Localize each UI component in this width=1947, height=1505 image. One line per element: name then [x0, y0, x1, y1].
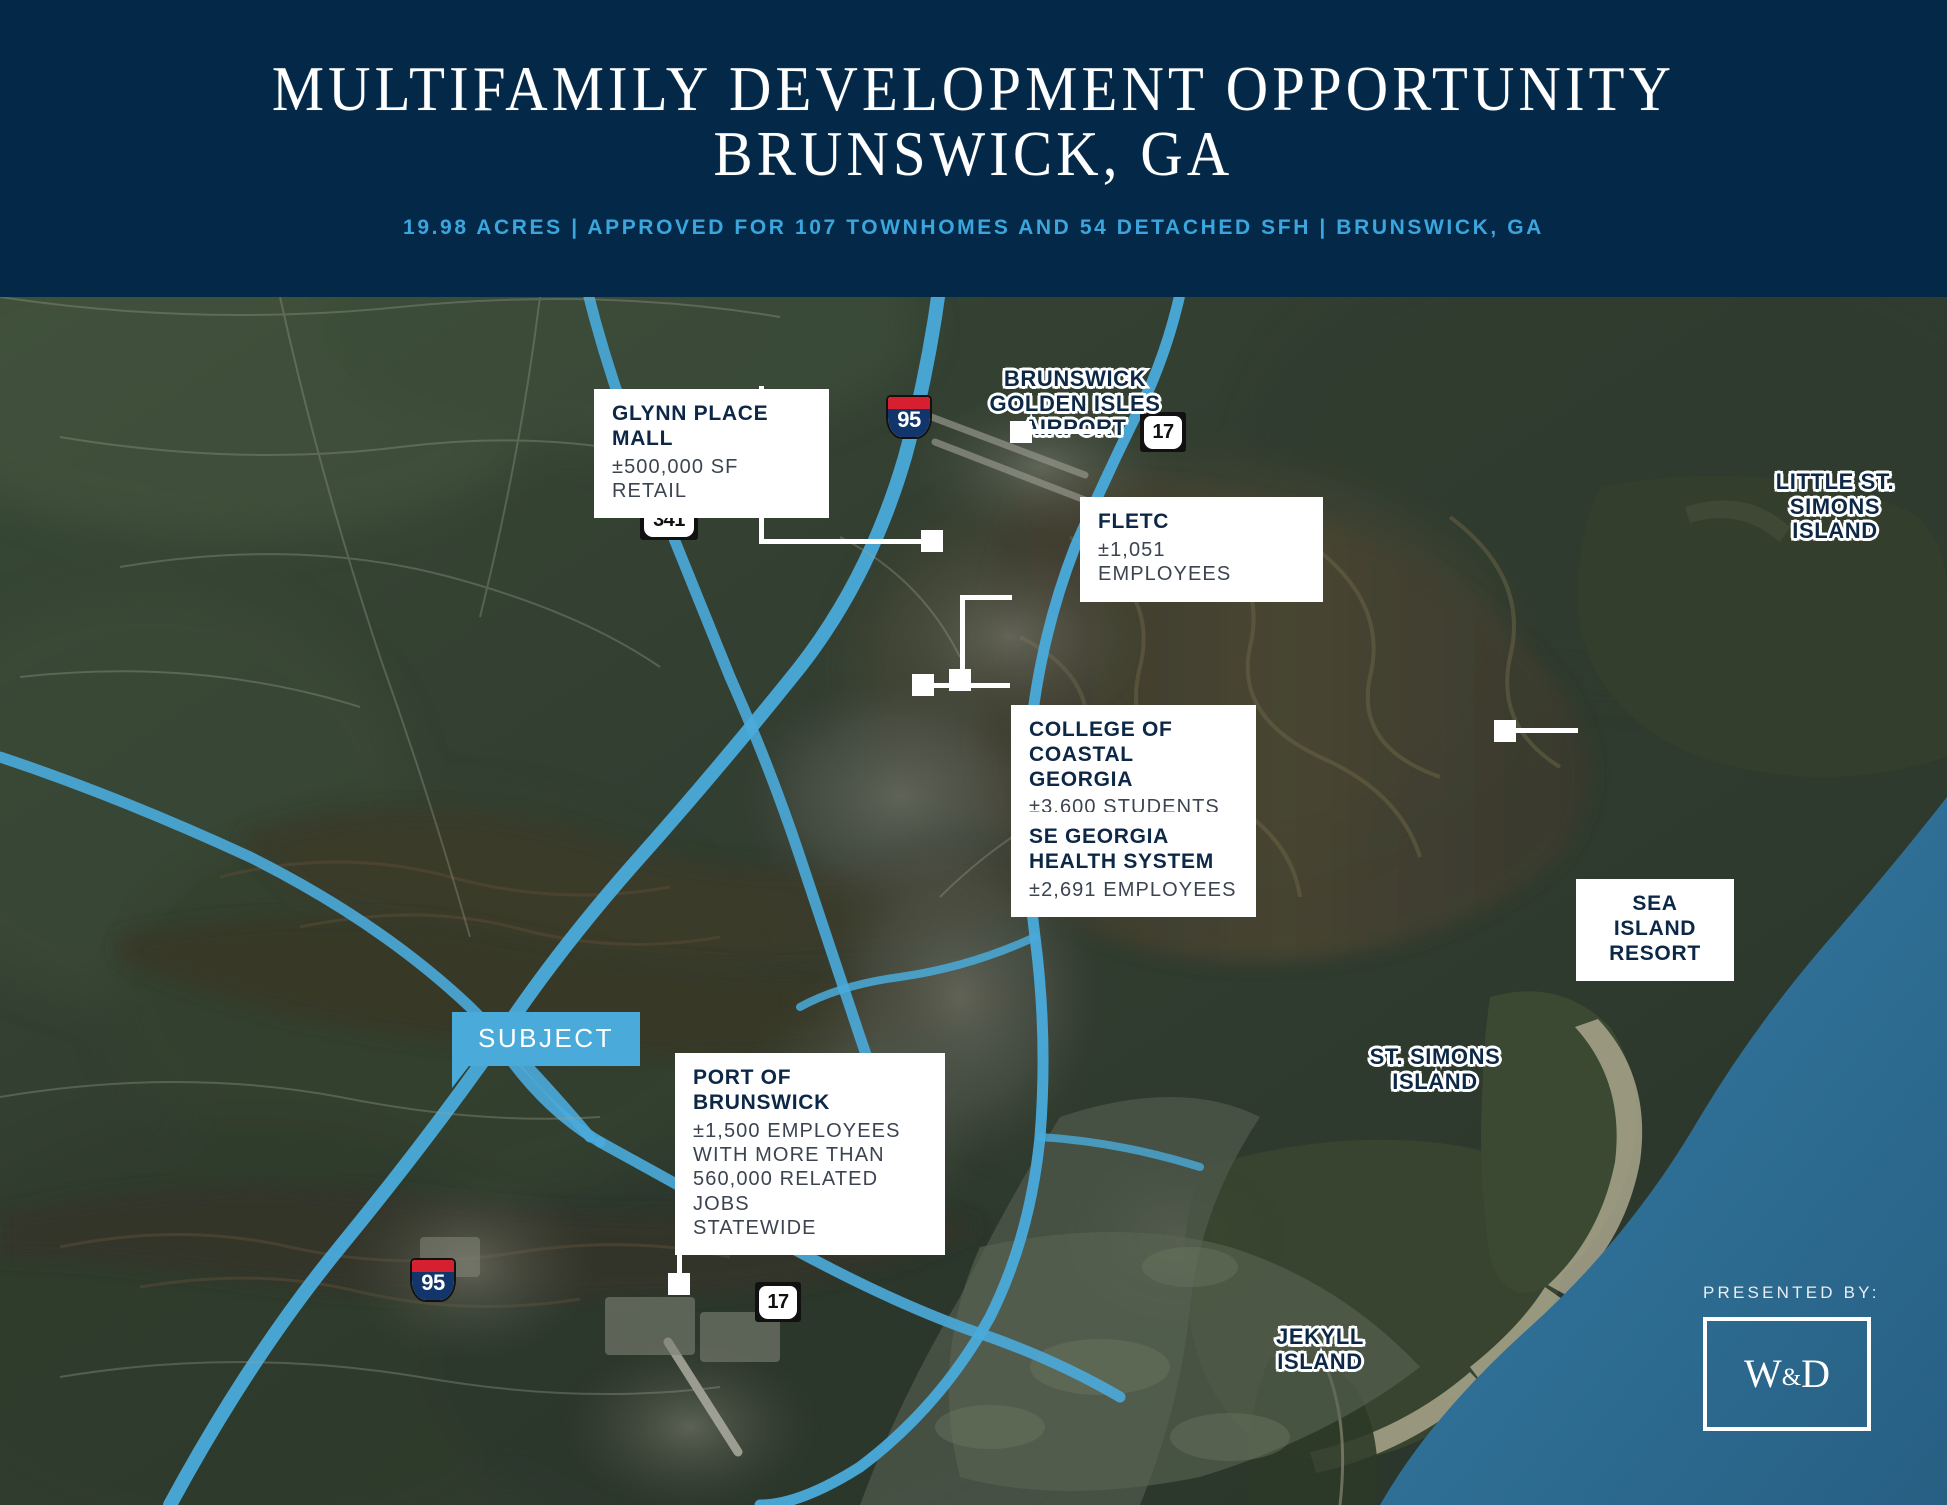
callout-title: FLETC	[1098, 510, 1305, 535]
presented-by-label: PRESENTED BY:	[1703, 1283, 1880, 1303]
shield-interstate-95-north: 95	[886, 395, 932, 439]
callout-detail: ±500,000 SF RETAIL	[612, 455, 811, 504]
callout-title: PORT OF BRUNSWICK	[693, 1066, 927, 1116]
anchor-fletc	[1010, 421, 1032, 443]
us-route-shield-icon: 17	[755, 1282, 801, 1322]
anchor-glynn-place-mall	[921, 530, 943, 552]
wd-logo-text: W&D	[1744, 1354, 1830, 1394]
place-label-st-simons-island: ST. SIMONS ISLAND	[1350, 1045, 1520, 1094]
shield-inner: 17	[759, 1286, 797, 1319]
callout-detail: ±1,051 EMPLOYEES	[1098, 538, 1305, 587]
leader-line-ccga-h	[960, 595, 1012, 600]
place-label-little-st-simons-island: LITTLE ST. SIMONS ISLAND	[1760, 470, 1910, 544]
callout-port-of-brunswick[interactable]: PORT OF BRUNSWICK ±1,500 EMPLOYEES WITH …	[675, 1053, 945, 1255]
satellite-imagery	[0, 237, 1947, 1505]
callout-title: SE GEORGIA HEALTH SYSTEM	[1029, 825, 1238, 875]
callout-title: COLLEGE OF COASTAL GEORGIA	[1029, 718, 1238, 792]
anchor-sea-island	[1494, 720, 1516, 742]
callout-detail: ±1,500 EMPLOYEES WITH MORE THAN 560,000 …	[693, 1119, 927, 1241]
leader-line-glynn-place-mall-h	[759, 539, 929, 544]
leader-line-fletc	[1028, 429, 1110, 434]
callout-fletc[interactable]: FLETC ±1,051 EMPLOYEES	[1080, 497, 1323, 602]
leader-line-ccga-v	[960, 595, 965, 679]
header-banner: MULTIFAMILY DEVELOPMENT OPPORTUNITY BRUN…	[0, 0, 1947, 297]
page-title: MULTIFAMILY DEVELOPMENT OPPORTUNITY BRUN…	[272, 57, 1675, 187]
leader-line-segahs	[928, 683, 1010, 688]
logo-ampersand: &	[1782, 1364, 1801, 1391]
shield-number: 95	[421, 1272, 444, 1300]
callout-glynn-place-mall[interactable]: GLYNN PLACE MALL ±500,000 SF RETAIL	[594, 389, 829, 518]
callout-title: SEA ISLAND RESORT	[1594, 892, 1716, 966]
shield-interstate-95-south: 95	[410, 1258, 456, 1302]
anchor-segahs	[912, 674, 934, 696]
header-subtitle: 19.98 ACRES | APPROVED FOR 107 TOWNHOMES…	[403, 216, 1544, 240]
logo-w: W	[1744, 1351, 1782, 1396]
interstate-shield-icon: 95	[886, 395, 932, 439]
shield-number: 17	[767, 1292, 788, 1312]
place-label-jekyll-island: JEKYLL ISLAND	[1255, 1325, 1385, 1374]
leader-line-sea-island	[1508, 728, 1578, 733]
callout-sea-island-resort[interactable]: SEA ISLAND RESORT	[1576, 879, 1734, 981]
callout-se-georgia-health-system[interactable]: SE GEORGIA HEALTH SYSTEM ±2,691 EMPLOYEE…	[1011, 812, 1256, 917]
shield-us-17-south: 17	[755, 1282, 801, 1322]
interstate-shield-icon: 95	[410, 1258, 456, 1302]
subject-label: SUBJECT	[452, 1012, 640, 1066]
anchor-port	[668, 1273, 690, 1295]
callout-title: GLYNN PLACE MALL	[612, 402, 811, 452]
marketing-flyer-page: MULTIFAMILY DEVELOPMENT OPPORTUNITY BRUN…	[0, 0, 1947, 1505]
aerial-map[interactable]	[0, 237, 1947, 1505]
presented-by-block: PRESENTED BY: W&D	[1703, 1283, 1880, 1431]
subject-pointer	[452, 1066, 469, 1088]
callout-detail: ±2,691 EMPLOYEES	[1029, 878, 1238, 902]
shield-number: 95	[897, 409, 920, 437]
subject-marker[interactable]: SUBJECT	[452, 1012, 640, 1066]
wd-logo[interactable]: W&D	[1703, 1317, 1871, 1431]
logo-d: D	[1801, 1351, 1830, 1396]
